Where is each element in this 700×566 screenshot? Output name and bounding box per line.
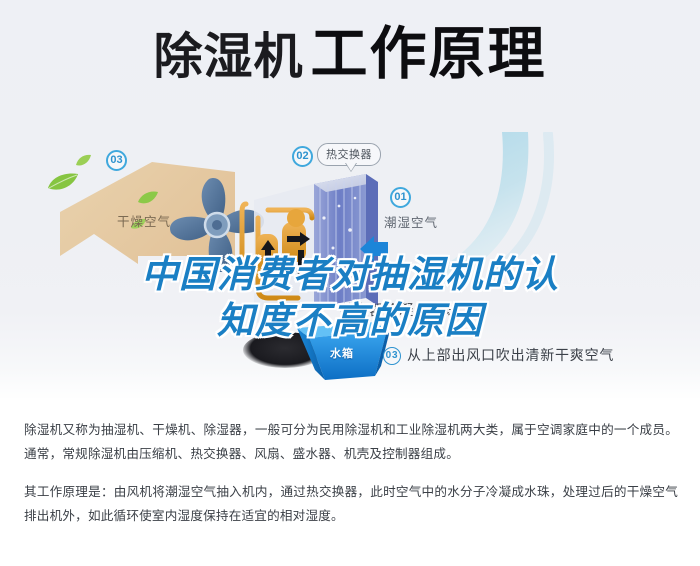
step-03-text: 从上部出风口吹出清新干爽空气 <box>407 347 614 363</box>
page-title: 除湿机工作原理 <box>0 26 700 83</box>
overlay-headline: 中国消费者对抽湿机的认 知度不高的原因 <box>0 252 700 344</box>
overlay-headline-line-2: 知度不高的原因 <box>0 298 700 344</box>
dry-air-label: 干燥空气 <box>117 211 171 230</box>
article-body: 除湿机又称为抽湿机、干燥机、除湿器，一般可分为民用除湿机和工业除湿机两大类，属于… <box>0 400 700 566</box>
step-description-03: 03从上部出风口吹出清新干爽空气 <box>383 345 614 365</box>
diagram-panel: 除湿机工作原理 <box>0 0 700 400</box>
title-part-1: 除湿机 <box>153 30 303 84</box>
water-tank-label: 水箱 <box>330 345 354 361</box>
step-badge-02: 02 <box>292 146 313 167</box>
callout-tail-icon <box>345 163 357 172</box>
step-badge-03: 03 <box>106 150 127 171</box>
leaf-icon <box>46 172 80 194</box>
article-paragraph-2: 其工作原理是：由风机将潮湿空气抽入机内，通过热交换器，此时空气中的水分子冷凝成水… <box>24 480 678 528</box>
overlay-headline-line-1: 中国消费者对抽湿机的认 <box>0 252 700 298</box>
humid-air-label: 潮湿空气 <box>384 212 438 231</box>
infographic-page: 除湿机工作原理 <box>0 0 700 566</box>
leaf-icon <box>75 154 92 168</box>
article-paragraph-1: 除湿机又称为抽湿机、干燥机、除湿器，一般可分为民用除湿机和工业除湿机两大类，属于… <box>24 418 678 466</box>
step-badge-03-inline: 03 <box>383 347 401 365</box>
step-badge-01: 01 <box>390 187 411 208</box>
leaf-icon <box>137 190 159 206</box>
title-part-2: 工作原理 <box>311 22 547 86</box>
